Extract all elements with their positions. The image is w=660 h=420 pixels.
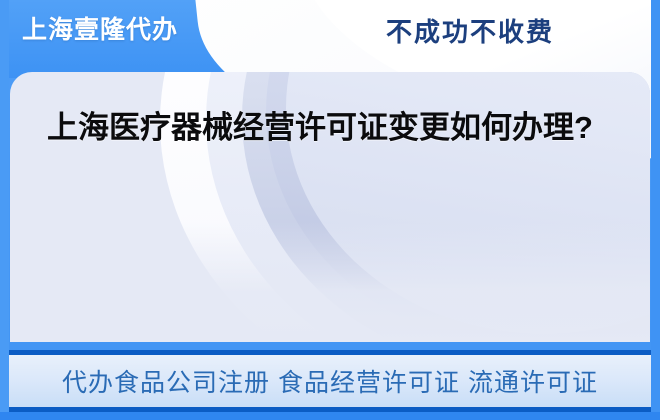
promo-banner: 上海壹隆代办 不成功不收费 上海医疗器械经营许可证变更如何办理? 代办食品公司注… [0,0,660,420]
services-list: 代办食品公司注册 食品经营许可证 流通许可证 [62,363,598,399]
slogan-text: 不成功不收费 [386,19,554,45]
right-edge-accent [651,0,660,420]
card-bottom-fade [10,222,650,342]
bottom-edge-accent [0,412,660,420]
brand-name: 上海壹隆代办 [22,18,178,43]
left-edge-accent [0,0,9,420]
banner-title: 上海医疗器械经营许可证变更如何办理? [30,108,610,148]
services-bar: 代办食品公司注册 食品经营许可证 流通许可证 [8,350,652,412]
